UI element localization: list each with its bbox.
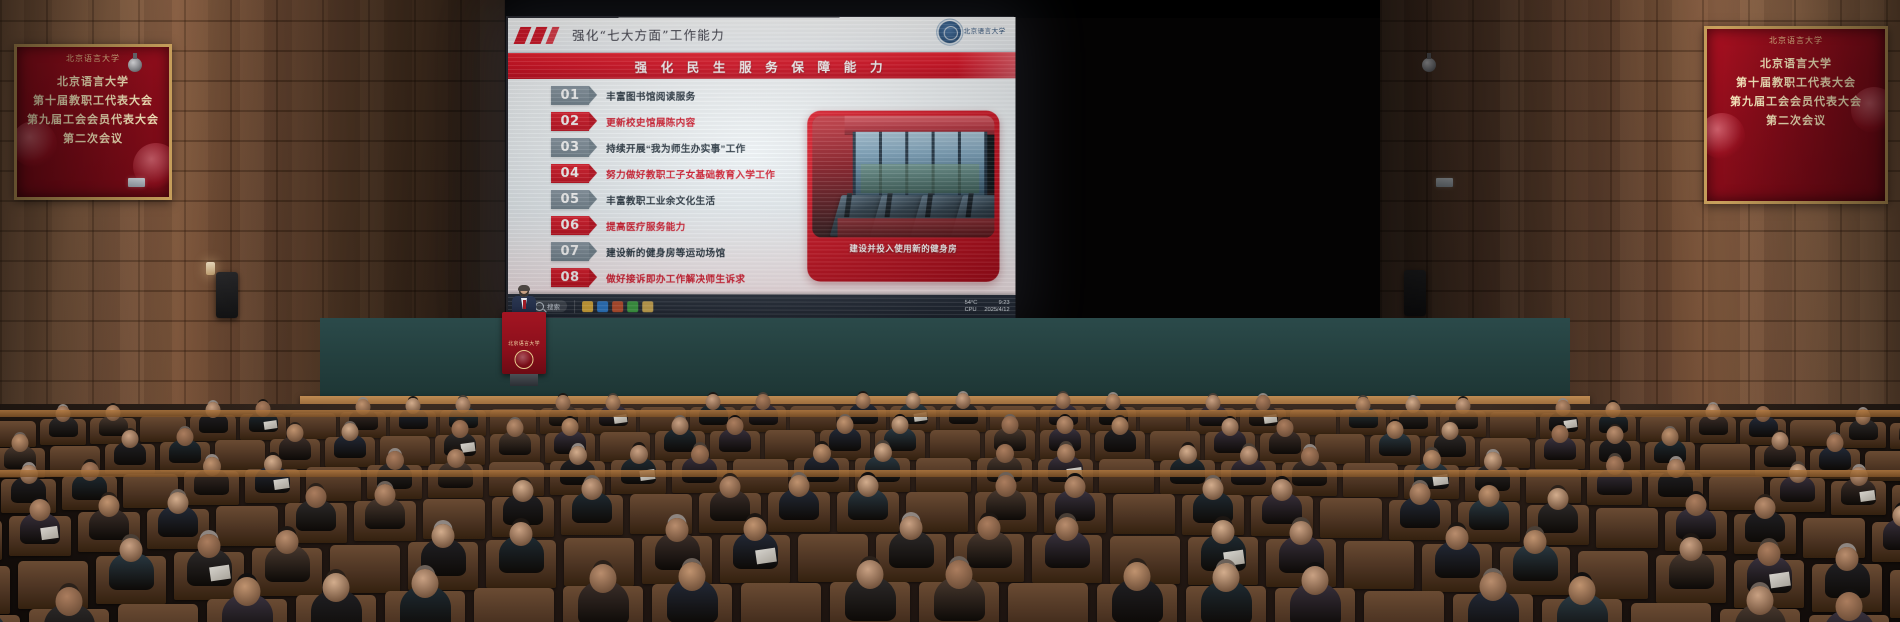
audience-head: [1680, 537, 1703, 561]
list-item-badge: 05: [551, 190, 589, 209]
audience-head: [1524, 530, 1547, 554]
audience-member: [334, 434, 366, 458]
audience-member: [719, 428, 751, 452]
audience-head: [1057, 416, 1074, 434]
presentation-slide: 强化“七大方面”工作能力 北京语言大学 强 化 民 生 服 务 保 障 能 力 …: [508, 17, 1016, 295]
list-item: 02 更新校史馆展陈内容: [551, 109, 787, 134]
audience-member: [158, 505, 198, 537]
search-placeholder: 搜索: [547, 301, 560, 311]
audience-paper: [263, 420, 277, 430]
audience-member: [710, 489, 750, 521]
powerpoint-icon[interactable]: [612, 301, 623, 312]
audience-head: [906, 393, 921, 409]
audience-head: [1056, 393, 1071, 409]
list-item: 07 建设新的健身房等运动场馆: [551, 239, 787, 264]
audience-head: [946, 560, 973, 589]
audience-head: [1065, 476, 1086, 498]
audience-member: [1513, 543, 1558, 581]
audience-head: [672, 417, 689, 435]
audience-head: [556, 395, 571, 411]
audience-head: [813, 444, 831, 463]
numbered-list: 01 丰富图书馆阅读服务 02 更新校史馆展陈内容 03 持续开展“我为师生办实…: [551, 83, 787, 292]
audience-head: [120, 538, 143, 562]
audience-head: [1423, 450, 1441, 469]
audience-head: [1827, 434, 1844, 452]
audience-head: [978, 516, 1001, 540]
audience-head: [900, 516, 923, 540]
audience-head: [198, 534, 221, 558]
audience-paper: [756, 547, 778, 564]
audience-member: [1735, 603, 1786, 622]
audience-head: [306, 486, 327, 508]
audience-member: [986, 488, 1026, 520]
audience-member: [667, 578, 718, 622]
audience-head: [1662, 428, 1679, 446]
audience-head: [1686, 494, 1707, 516]
banner-gradient-tail: [957, 52, 1016, 78]
seat: [1596, 508, 1658, 548]
audience-head: [1240, 446, 1258, 465]
audience-member: [1104, 428, 1136, 452]
audience-head: [510, 522, 533, 546]
audience-head: [1387, 421, 1404, 439]
list-item: 01 丰富图书馆阅读服务: [551, 83, 787, 108]
audience-member: [169, 439, 201, 463]
taskbar-system-tray[interactable]: 54°C CPU 9:23 2025/4/12: [965, 300, 1010, 314]
audience-head: [1410, 483, 1431, 505]
audience-head: [756, 394, 771, 410]
seat: [741, 583, 821, 622]
seat-row: [0, 604, 1900, 622]
audience-head: [590, 564, 617, 593]
audience-head: [1552, 425, 1569, 443]
audience-head: [1484, 452, 1502, 471]
audience-head: [606, 395, 621, 411]
gym-photo-card: 建设并投入使用新的健身房: [807, 111, 999, 282]
audience-member: [578, 580, 629, 622]
seat: [474, 588, 554, 622]
audience-member: [845, 576, 896, 621]
seat: [1008, 583, 1088, 622]
seat: [118, 604, 198, 622]
university-logo: 北京语言大学: [938, 21, 1005, 43]
audience-head: [342, 423, 359, 441]
audience-member: [400, 585, 451, 622]
audience-member: [1669, 551, 1714, 589]
gym-floor: [838, 218, 995, 238]
audience-head: [630, 445, 648, 464]
audience-member: [779, 488, 819, 520]
audience-head: [1212, 520, 1235, 544]
audience-head: [375, 484, 396, 506]
audience-head: [1772, 432, 1789, 450]
audience-head: [12, 434, 29, 452]
audience-member: [1764, 443, 1796, 467]
screen-surface: 强化“七大方面”工作能力 北京语言大学 强 化 民 生 服 务 保 障 能 力 …: [508, 17, 1016, 319]
clock-time: 9:23: [984, 300, 1009, 307]
podium: 北京语言大学: [500, 288, 548, 388]
seat: [215, 440, 265, 470]
audience-member: [1045, 530, 1090, 568]
audience-member: [1824, 609, 1875, 622]
list-item: 05 丰富教职工业余文化生活: [551, 187, 787, 212]
audience-head: [507, 419, 524, 437]
audience-head: [892, 416, 909, 434]
audience-head: [99, 495, 120, 517]
audience-head: [727, 417, 744, 435]
audience-head: [1446, 526, 1469, 550]
audience-head: [1002, 416, 1019, 434]
audience-head: [30, 499, 51, 521]
audience-head: [874, 443, 892, 462]
audience-head: [168, 492, 189, 514]
seat: [1113, 494, 1175, 534]
audience-head: [1442, 422, 1459, 440]
audience-member: [49, 416, 78, 437]
audience-member: [72, 473, 107, 500]
audience-head: [1277, 419, 1294, 437]
audience-member: [109, 552, 154, 590]
audience-head: [996, 444, 1014, 463]
seat: [765, 430, 815, 460]
taskbar-divider: [574, 300, 575, 313]
audience-head: [1256, 395, 1271, 411]
audience-member: [503, 493, 543, 525]
file-explorer-icon[interactable]: [582, 301, 593, 312]
audience-head: [837, 416, 854, 434]
list-item-label: 建设新的健身房等运动场馆: [606, 245, 725, 259]
audience-member: [1699, 414, 1728, 435]
audience-head: [1290, 521, 1313, 545]
audience-head: [1758, 542, 1781, 566]
audience-member: [1544, 436, 1576, 460]
audience-head: [447, 449, 465, 468]
list-item: 03 持续开展“我为师生办实事”工作: [551, 135, 787, 160]
audience-member: [1201, 580, 1252, 622]
audience-member: [1469, 498, 1509, 530]
audience-member: [1745, 510, 1785, 542]
audience-member: [1379, 432, 1411, 456]
cpu-label: CPU: [965, 307, 978, 314]
podium-text: 北京语言大学: [508, 340, 540, 347]
audience-head: [276, 530, 299, 554]
audience-member: [1676, 507, 1716, 539]
slide-header-title: 强化“七大方面”工作能力: [572, 25, 725, 44]
list-item-label: 持续开展“我为师生办实事”工作: [606, 140, 745, 154]
gym-photo: [812, 116, 994, 238]
auditorium-scene: 北京语言大学 北京语言大学 第十届教职工代表大会 第九届工会会员代表大会 第二次…: [0, 0, 1900, 622]
list-item: 08 做好接诉即办工作解决师生诉求: [551, 265, 787, 290]
audience-head: [569, 446, 587, 465]
audience-head: [177, 428, 194, 446]
audience-member: [1112, 578, 1163, 622]
windows-taskbar[interactable]: 搜索 54°C CPU 9:23 20: [508, 294, 1016, 319]
audience-head: [789, 475, 810, 497]
audience-head: [691, 445, 709, 464]
list-item-label: 努力做好教职工子女基础教育入学工作: [606, 166, 775, 180]
seat: [1320, 498, 1382, 538]
seat: [1343, 463, 1398, 497]
audience-member: [1055, 489, 1095, 521]
audience-member: [889, 530, 934, 568]
audience-head: [1569, 576, 1596, 605]
audience-member: [848, 488, 888, 520]
list-item-badge: 03: [551, 138, 589, 157]
audience-head: [323, 573, 350, 602]
folder-icon[interactable]: [642, 301, 653, 312]
podium-base: [510, 374, 538, 386]
audience-head: [679, 562, 706, 591]
audience-member: [804, 455, 839, 482]
audience-head: [1755, 497, 1776, 519]
list-item: 06 提高医疗服务能力: [551, 213, 787, 238]
audience-paper: [210, 564, 232, 581]
audience-member: [365, 497, 405, 529]
audience-member: [1819, 446, 1851, 470]
seat-row-rail: [0, 410, 1900, 417]
audience-member: [1435, 540, 1480, 578]
audience-member: [1290, 582, 1341, 622]
audience-head: [122, 430, 139, 448]
audience-head: [1747, 586, 1774, 615]
audience-head: [1836, 592, 1863, 621]
audience-head: [1206, 395, 1221, 411]
ceiling-dark: [505, 0, 1380, 18]
projection-screen: 强化“七大方面”工作能力 北京语言大学 强 化 民 生 服 务 保 障 能 力 …: [508, 18, 1012, 318]
audience-member: [1400, 496, 1440, 528]
seat-rows: [0, 404, 1900, 622]
audience-member: [1780, 475, 1815, 502]
taskbar-clock[interactable]: 9:23 2025/4/12: [984, 300, 1009, 314]
audience-head: [56, 587, 83, 616]
audience-head: [720, 476, 741, 498]
list-item-label: 丰富教职工业余文化生活: [606, 193, 715, 207]
list-item-label: 提高医疗服务能力: [606, 219, 685, 233]
cpu-temp-value: 54°C: [965, 300, 978, 307]
seat: [216, 506, 278, 546]
seat: [1364, 591, 1444, 622]
list-item-badge: 01: [551, 86, 589, 105]
audience-head: [1301, 447, 1319, 466]
slide-banner-title-bar: 强 化 民 生 服 务 保 障 能 力: [508, 52, 1016, 79]
podium-body: 北京语言大学: [502, 312, 546, 374]
taskbar-app-icons[interactable]: [582, 301, 653, 312]
audience-head: [1213, 563, 1240, 592]
list-item-badge: 04: [551, 164, 589, 183]
presenter-hair: [518, 285, 530, 291]
audience-head: [1836, 547, 1859, 571]
list-item-label: 更新校史馆展陈内容: [606, 114, 695, 128]
audience-member: [89, 508, 129, 540]
slide-header: 强化“七大方面”工作能力 北京语言大学: [508, 17, 1016, 53]
audience-head: [1607, 426, 1624, 444]
clock-date: 2025/4/12: [984, 307, 1009, 314]
audience-head: [1112, 417, 1129, 435]
audience-head: [706, 394, 721, 410]
audience-member: [279, 436, 311, 460]
audience-member: [1269, 430, 1301, 454]
audience-head: [1124, 562, 1151, 591]
red-slash-marks-icon: [517, 27, 563, 44]
audience-member: [499, 431, 531, 455]
list-item-badge: 08: [551, 268, 589, 287]
audience-head: [1272, 479, 1293, 501]
audience-head: [1222, 418, 1239, 436]
audience-member: [296, 499, 336, 531]
audience-head: [744, 517, 767, 541]
audience-head: [287, 424, 304, 442]
list-item-badge: 02: [551, 112, 589, 131]
audience-area: [0, 404, 1900, 622]
audience-head: [1480, 572, 1507, 601]
audience-member: [499, 535, 544, 573]
audience-head: [432, 524, 455, 548]
audience-member: [265, 544, 310, 582]
university-emblem: [515, 350, 534, 369]
seat: [1631, 603, 1711, 622]
audience-head: [386, 451, 404, 470]
seat: [930, 430, 980, 460]
audience-head: [857, 560, 884, 589]
audience-member: [114, 441, 146, 465]
audience-head: [562, 418, 579, 436]
audience-member: [934, 576, 985, 621]
seat: [1315, 434, 1365, 464]
audience-head: [996, 475, 1017, 497]
audience-member: [1538, 501, 1578, 533]
audience-head: [582, 478, 603, 500]
audience-head: [1479, 485, 1500, 507]
audience-head: [1179, 445, 1197, 464]
seat: [1344, 541, 1414, 589]
list-item-label: 做好接诉即办工作解决师生诉求: [606, 271, 745, 285]
slide-body: 01 丰富图书馆阅读服务 02 更新校史馆展陈内容 03 持续开展“我为师生办实…: [508, 78, 1016, 301]
audience-head: [1302, 566, 1329, 595]
list-item-badge: 06: [551, 216, 589, 235]
audience-paper: [273, 478, 289, 490]
wechat-icon[interactable]: [627, 301, 638, 312]
seat-row-rail: [0, 470, 1900, 477]
audience-head: [1548, 488, 1569, 510]
edge-browser-icon[interactable]: [597, 301, 608, 312]
audience-member: [572, 491, 612, 523]
list-item-label: 丰富图书馆阅读服务: [606, 88, 695, 102]
list-item: 04 努力做好教职工子女基础教育入学工作: [551, 161, 787, 186]
audience-head: [1057, 444, 1075, 463]
audience-member: [1262, 492, 1302, 524]
audience-head: [666, 518, 689, 542]
audience-head: [858, 475, 879, 497]
audience-head: [956, 393, 971, 409]
audience-head: [513, 480, 534, 502]
gym-photo-caption: 建设并投入使用新的健身房: [812, 237, 994, 259]
audience-head: [856, 393, 871, 409]
audience-head: [1893, 505, 1900, 527]
audience-member: [44, 603, 95, 622]
audience-head: [234, 577, 261, 606]
university-seal-icon: [938, 21, 960, 43]
audience-head: [1106, 394, 1121, 410]
university-logo-name: 北京语言大学: [964, 28, 1006, 36]
cpu-temperature-widget[interactable]: 54°C CPU: [965, 300, 978, 314]
list-item-badge: 07: [551, 242, 589, 261]
audience-member: [967, 530, 1012, 568]
slide-banner-title: 强 化 民 生 服 务 保 障 能 力: [635, 56, 888, 75]
audience-member: [1849, 419, 1878, 440]
audience-member: [1193, 491, 1233, 523]
audience-member: [829, 427, 861, 451]
audience-head: [452, 420, 469, 438]
audience-head: [412, 569, 439, 598]
presenter-tie: [523, 300, 526, 309]
audience-head: [1056, 517, 1079, 541]
audience-head: [1203, 478, 1224, 500]
